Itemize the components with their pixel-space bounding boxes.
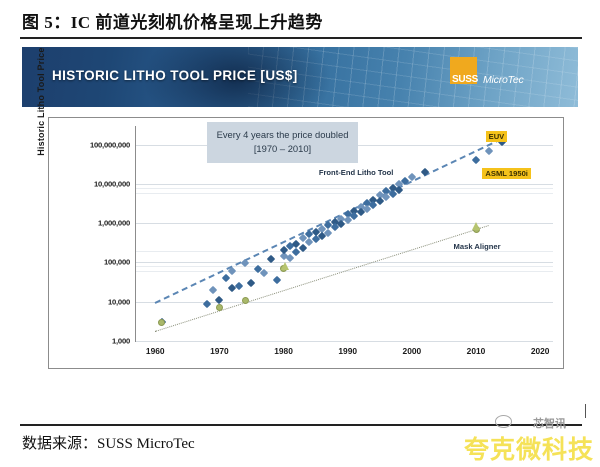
data-point (209, 286, 217, 294)
y-gridline-minor (136, 266, 553, 267)
x-tick-label: 1960 (146, 346, 165, 356)
suss-microtec-logo: SUSS MicroTec (450, 57, 562, 97)
data-point (215, 296, 223, 304)
euv-label: EUV (486, 131, 508, 142)
chart-image-panel: HISTORIC LITHO TOOL PRICE [US$] SUSS Mic… (22, 47, 578, 402)
y-gridline-minor (136, 193, 553, 194)
data-point (485, 147, 493, 155)
doubling-callout: Every 4 years the price doubled [1970 – … (207, 122, 359, 163)
banner-title: HISTORIC LITHO TOOL PRICE [US$] (52, 68, 298, 83)
x-tick-label: 2010 (467, 346, 486, 356)
y-gridline-minor (136, 188, 553, 189)
x-tick-label: 1990 (338, 346, 357, 356)
watermark-yellow-text: 夸克微科技 (464, 430, 594, 466)
y-axis-title: Historic Litho Tool Price [US$] (36, 47, 46, 173)
plot-frame: 1,00010,000100,0001,000,00010,000,000100… (48, 117, 564, 369)
y-gridline (136, 302, 553, 303)
data-point (242, 297, 249, 304)
source-note: 数据来源：SUSS MicroTec (22, 432, 195, 453)
data-point (472, 222, 480, 230)
data-point (234, 282, 242, 290)
asml-label: ASML 1950i (482, 168, 531, 179)
y-tick-label: 10,000,000 (94, 179, 130, 188)
y-gridline (136, 184, 553, 185)
x-tick-label: 1980 (274, 346, 293, 356)
logo-wordmark-text: MicroTec (483, 74, 524, 86)
y-tick-label: 1,000 (112, 337, 130, 346)
plot-area: 1,00010,000100,0001,000,00010,000,000100… (135, 126, 553, 342)
data-point (222, 274, 230, 282)
watermark-grey-text: 芯智讯 (533, 415, 566, 431)
data-point (247, 279, 255, 287)
data-point (286, 254, 294, 262)
data-point (158, 319, 165, 326)
page-edge-mark (585, 404, 587, 418)
y-tick-label: 100,000,000 (90, 140, 130, 149)
title-divider (20, 37, 582, 39)
data-point (228, 267, 236, 275)
x-tick-label: 2020 (531, 346, 550, 356)
page-title: 图 5：IC 前道光刻机价格呈现上升趋势 (22, 8, 323, 33)
y-tick-label: 1,000,000 (98, 219, 130, 228)
data-point (472, 156, 480, 164)
y-gridline (136, 262, 553, 263)
data-point (273, 276, 281, 284)
x-tick-label: 2000 (403, 346, 422, 356)
y-tick-label: 100,000 (104, 258, 130, 267)
watermark-logo-icon (495, 415, 512, 428)
front-end-label: Front-End Litho Tool (319, 168, 394, 177)
plot-wrapper: Historic Litho Tool Price [US$] 1,00010,… (30, 115, 570, 395)
data-point (281, 262, 289, 270)
x-tick-label: 1970 (210, 346, 229, 356)
logo-mark-text: SUSS (452, 74, 478, 85)
mask-aligner-label: Mask Aligner (454, 242, 501, 251)
chart-banner: HISTORIC LITHO TOOL PRICE [US$] SUSS Mic… (22, 47, 578, 107)
y-gridline (136, 341, 553, 342)
data-point (202, 299, 210, 307)
data-point (260, 268, 268, 276)
y-tick-label: 10,000 (108, 297, 130, 306)
